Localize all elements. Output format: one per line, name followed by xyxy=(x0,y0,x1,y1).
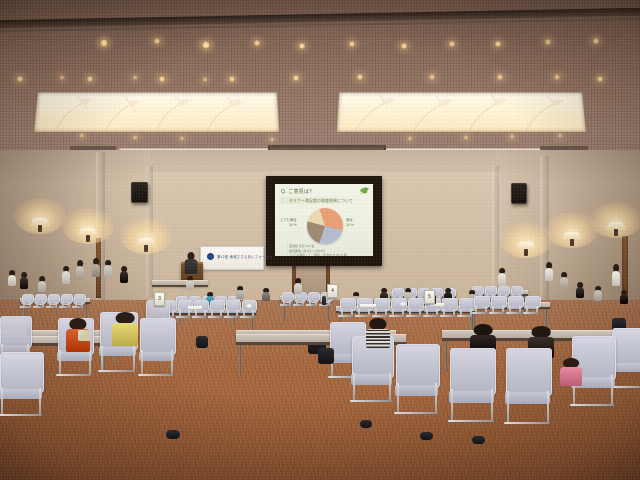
banquet-chair[interactable] xyxy=(308,292,318,306)
ceiling-speaker xyxy=(511,183,527,204)
wall-sconce xyxy=(562,226,582,248)
chair-seat xyxy=(0,389,42,399)
green-leaf-logo xyxy=(359,186,370,195)
chair-skid xyxy=(240,316,254,318)
chair-skid xyxy=(570,404,614,406)
sconce-arm xyxy=(524,249,528,256)
banner-text: 第12回 地域ささえあいフォーラム xyxy=(217,254,272,259)
chair-leg-left xyxy=(101,346,103,372)
bowl xyxy=(246,304,252,308)
chair-back xyxy=(506,348,552,397)
attendee-torso xyxy=(262,292,270,301)
shirt-stripe-pattern xyxy=(366,330,390,348)
organization-logo xyxy=(207,253,214,260)
recessed-downlight xyxy=(179,136,185,141)
chair-skid xyxy=(350,400,392,402)
water-bottle xyxy=(322,296,326,305)
wall-sconce xyxy=(606,216,626,238)
chair-seat xyxy=(505,392,550,404)
chair-skid xyxy=(610,386,640,388)
pie-chart xyxy=(307,208,343,244)
attendee xyxy=(620,290,628,304)
banquet-chair[interactable] xyxy=(442,298,456,317)
table-leg xyxy=(239,344,241,376)
wall-sconce xyxy=(516,236,536,258)
conference-hall-photo: Q. ご意見は？ セミナー満足度の調査結果について とても満足34 % 満足26… xyxy=(0,0,640,480)
chair-seat xyxy=(99,347,136,357)
pie-label-right: 満足26 % xyxy=(346,218,354,228)
document-paper xyxy=(360,304,376,307)
wall-sconce xyxy=(78,222,98,244)
chair-leg-right xyxy=(611,375,613,406)
chair-skid xyxy=(293,304,303,306)
attendee xyxy=(92,258,100,277)
attendee xyxy=(594,286,602,301)
chair-skid xyxy=(20,306,30,308)
presenter-body xyxy=(185,259,198,274)
attendee xyxy=(76,260,84,279)
chair-skid xyxy=(192,316,206,318)
attendee-torso xyxy=(92,264,100,277)
recessed-downlight xyxy=(553,74,560,80)
attendee-torso xyxy=(76,266,84,279)
attendee-torso xyxy=(8,275,16,286)
banquet-chair[interactable] xyxy=(194,300,207,318)
attendee-torso xyxy=(498,273,506,286)
chair-leg-left xyxy=(353,373,355,402)
attendee-torso xyxy=(620,294,628,304)
table-number-placard: 3 xyxy=(154,292,165,306)
document-paper xyxy=(188,306,202,309)
chair-leg-left xyxy=(397,383,399,414)
banquet-chair[interactable] xyxy=(35,294,45,308)
chair-skid xyxy=(33,306,43,308)
slide-subtitle: セミナー満足度の調査結果について xyxy=(289,198,353,204)
banquet-chair[interactable] xyxy=(491,296,505,314)
chair-skid xyxy=(306,304,316,306)
banquet-chair[interactable] xyxy=(178,300,191,318)
chair-leg-right xyxy=(435,383,437,414)
panel-frame xyxy=(34,93,279,133)
banquet-chair[interactable] xyxy=(295,292,305,306)
chair-leg-right xyxy=(389,373,391,402)
chair-leg-right xyxy=(133,346,135,372)
chair-skid xyxy=(138,374,173,376)
recessed-downlight xyxy=(428,74,435,80)
chair-leg-left xyxy=(1,388,3,416)
banquet-chair[interactable] xyxy=(396,344,438,414)
banquet-chair[interactable] xyxy=(474,296,488,314)
banquet-chair[interactable] xyxy=(340,298,354,317)
chair-leg-left xyxy=(59,350,61,376)
banquet-chair[interactable] xyxy=(282,292,292,306)
chair-skid xyxy=(389,315,404,317)
chair-leg-left xyxy=(507,391,509,424)
slide-notes: ・回答数 合計 120 名・調査期間 7月1日〜7月15日・「とても満足」と「満… xyxy=(286,244,347,256)
attendee xyxy=(560,272,568,289)
chair-leg-right xyxy=(491,389,493,422)
sconce-arm xyxy=(38,225,42,232)
attendee-torso xyxy=(576,287,584,298)
ceiling-speaker xyxy=(131,182,148,203)
banquet-chair[interactable] xyxy=(210,300,223,318)
attendee xyxy=(104,260,112,278)
chair-back xyxy=(396,344,440,389)
projection-screen[interactable]: Q. ご意見は？ セミナー満足度の調査結果について とても満足34 % 満足26… xyxy=(266,176,382,266)
table-edge xyxy=(152,285,208,287)
banquet-chair[interactable] xyxy=(508,296,522,314)
chair-skid xyxy=(0,414,42,416)
shoe xyxy=(472,436,485,444)
attendee xyxy=(262,288,270,301)
chair-skid xyxy=(489,312,504,314)
wall-sconce xyxy=(136,232,156,254)
attendee xyxy=(545,262,553,281)
banquet-chair[interactable] xyxy=(48,294,58,308)
ceiling xyxy=(0,0,640,172)
projected-slide: Q. ご意見は？ セミナー満足度の調査結果について とても満足34 % 満足26… xyxy=(275,184,373,256)
chair-leg-right xyxy=(547,391,549,424)
attendee xyxy=(236,286,244,299)
chair-skid xyxy=(457,315,472,317)
chair-skid xyxy=(448,420,494,422)
attendee-torso xyxy=(545,268,553,281)
sconce-arm xyxy=(614,229,618,236)
attendee-torso xyxy=(560,367,582,386)
recessed-downlight xyxy=(79,133,86,138)
recessed-downlight xyxy=(202,77,209,82)
chair-seat xyxy=(351,374,392,385)
chair-skid xyxy=(176,316,190,318)
chair-skid xyxy=(523,312,538,314)
shoe xyxy=(360,420,372,428)
pie-label-left: とても満足34 % xyxy=(280,218,297,228)
recessed-downlight xyxy=(59,75,66,80)
panel-frame xyxy=(337,93,586,133)
recessed-downlight xyxy=(132,75,139,80)
chair-leg-right xyxy=(89,350,91,376)
attendee-torso xyxy=(104,265,112,278)
shoe xyxy=(166,430,180,439)
chair-back xyxy=(612,328,640,367)
attendee xyxy=(186,276,194,290)
stage-banner: 第12回 地域ささえあいフォーラム xyxy=(200,246,264,270)
attendee xyxy=(120,266,128,283)
chair-skid xyxy=(440,315,455,317)
chair-back xyxy=(0,352,44,394)
chair-leg-left xyxy=(141,350,143,376)
recessed-downlight xyxy=(99,39,109,47)
shirt-graphic-print xyxy=(78,330,91,341)
attendee-torso xyxy=(560,277,568,289)
chair-skid xyxy=(56,374,91,376)
bowl xyxy=(400,302,406,306)
sconce-arm xyxy=(86,235,90,242)
chair-seat xyxy=(449,391,494,403)
chair-skid xyxy=(472,312,487,314)
chair-skid xyxy=(59,306,69,308)
chair-skid xyxy=(280,304,290,306)
illuminated-ceiling-panel xyxy=(337,93,586,133)
banquet-chair[interactable] xyxy=(506,348,550,424)
banquet-chair[interactable] xyxy=(140,318,174,376)
chair-skid xyxy=(208,316,222,318)
chair-skid xyxy=(372,315,387,317)
pink-shirt-child xyxy=(560,358,582,386)
chair-skid xyxy=(423,315,438,317)
recessed-downlight xyxy=(509,134,516,139)
banquet-chair[interactable] xyxy=(242,300,255,318)
attendee xyxy=(576,282,584,298)
attendee xyxy=(294,278,302,294)
chair-seat xyxy=(139,352,174,361)
chair-skid xyxy=(406,315,421,317)
table-number-placard: 4 xyxy=(327,284,338,298)
attendee-torso xyxy=(594,290,602,301)
chair-skid xyxy=(46,306,56,308)
banquet-chair[interactable] xyxy=(612,328,640,388)
chair-back xyxy=(450,348,496,396)
chair-skid xyxy=(224,316,238,318)
chair-leg-left xyxy=(451,389,453,422)
attendee-torso xyxy=(20,277,28,289)
chair-skid xyxy=(72,306,82,308)
banquet-chair[interactable] xyxy=(525,296,539,314)
sconce-arm xyxy=(570,239,574,246)
chair-skid xyxy=(394,412,438,414)
banquet-chair[interactable] xyxy=(74,294,84,308)
sconce-arm xyxy=(144,245,148,252)
attendee xyxy=(38,276,46,292)
chair-leg-right xyxy=(39,388,41,416)
attendee-torso xyxy=(612,271,620,286)
attendee xyxy=(62,266,70,284)
attendee xyxy=(612,264,620,286)
banquet-chair[interactable] xyxy=(408,298,422,317)
recessed-downlight xyxy=(557,133,563,138)
banquet-chair[interactable] xyxy=(22,294,32,308)
table-number-placard: 5 xyxy=(424,290,435,304)
chair-skid xyxy=(98,370,135,372)
table-leg xyxy=(445,340,447,372)
chair-skid xyxy=(338,315,353,317)
recessed-downlight xyxy=(463,135,470,140)
chair-skid xyxy=(355,315,370,317)
banquet-chair[interactable] xyxy=(357,298,371,317)
attendee-torso xyxy=(186,280,194,290)
backpack xyxy=(196,336,208,348)
banquet-chair[interactable] xyxy=(374,298,388,317)
shoe xyxy=(420,432,433,440)
attendee xyxy=(20,272,28,289)
chair-leg-right xyxy=(171,350,173,376)
recessed-downlight xyxy=(132,135,139,140)
chair-seat xyxy=(395,385,438,396)
attendee-torso xyxy=(38,281,46,292)
chair-skid xyxy=(506,312,521,314)
illuminated-ceiling-panel xyxy=(34,93,279,133)
presenter-at-podium xyxy=(184,252,198,274)
banquet-chair[interactable] xyxy=(391,298,405,317)
attendee-torso xyxy=(236,290,244,299)
banquet-chair[interactable] xyxy=(459,298,473,317)
chair-seat xyxy=(57,352,92,361)
backpack xyxy=(318,348,334,364)
wall-sconce xyxy=(30,212,50,234)
attendee-torso xyxy=(120,271,128,283)
attendee-torso xyxy=(294,283,302,294)
attendee xyxy=(8,270,16,286)
banquet-chair[interactable] xyxy=(0,352,42,416)
recessed-downlight xyxy=(407,136,413,141)
recessed-downlight xyxy=(201,41,210,48)
recessed-downlight xyxy=(269,137,275,142)
yellow-shirt-child xyxy=(112,312,138,346)
banquet-chair[interactable] xyxy=(450,348,494,422)
attendee-torso xyxy=(62,271,70,284)
slide-title: Q. ご意見は？ xyxy=(281,188,314,195)
banquet-chair[interactable] xyxy=(226,300,239,318)
banquet-chair[interactable] xyxy=(61,294,71,308)
chair-skid xyxy=(504,422,550,424)
attendee-torso xyxy=(112,323,138,346)
attendee xyxy=(498,268,506,286)
